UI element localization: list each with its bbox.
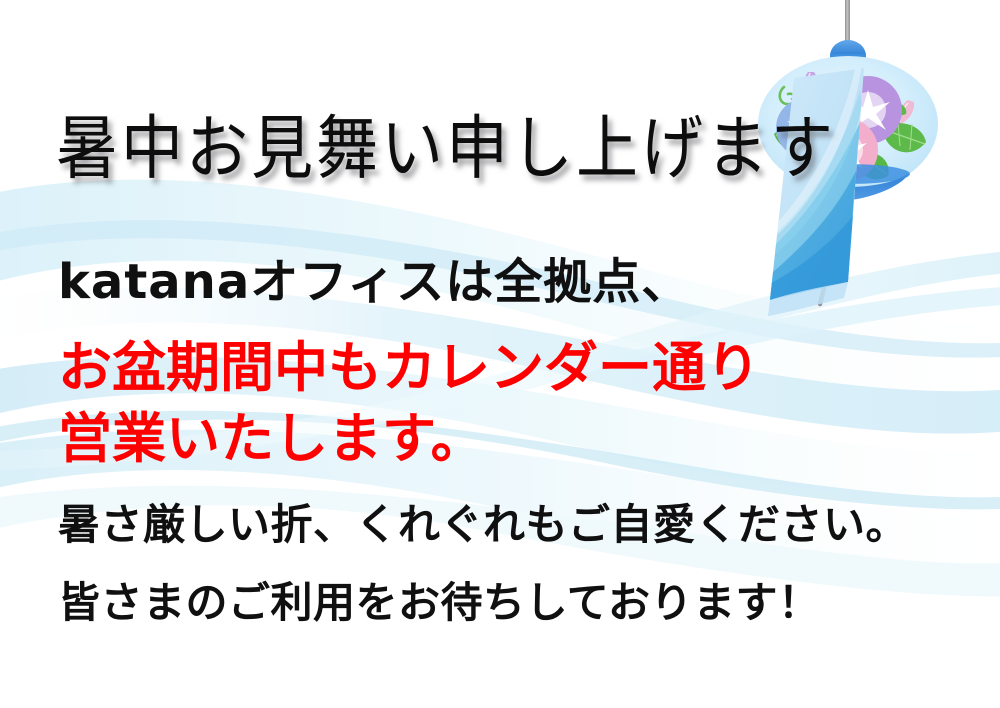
closing-line-2: 皆さまのご利用をお待ちしております！ (58, 582, 820, 624)
closing-line-1: 暑さ厳しい折、くれぐれもご自愛ください。 (58, 504, 908, 546)
greeting-title: 暑中お見舞い申し上げます (56, 115, 836, 184)
summer-greeting-poster: 暑中お見舞い申し上げます katanaオフィスは全拠点、 お盆期間中もカレンダー… (0, 0, 1000, 708)
notice-red-line-1: お盆期間中もカレンダー通り (58, 341, 760, 395)
poster-text-layer: 暑中お見舞い申し上げます katanaオフィスは全拠点、 お盆期間中もカレンダー… (0, 0, 1000, 708)
notice-red-line-2: 営業いたします。 (58, 412, 485, 466)
company-line: katanaオフィスは全拠点、 (58, 258, 690, 306)
